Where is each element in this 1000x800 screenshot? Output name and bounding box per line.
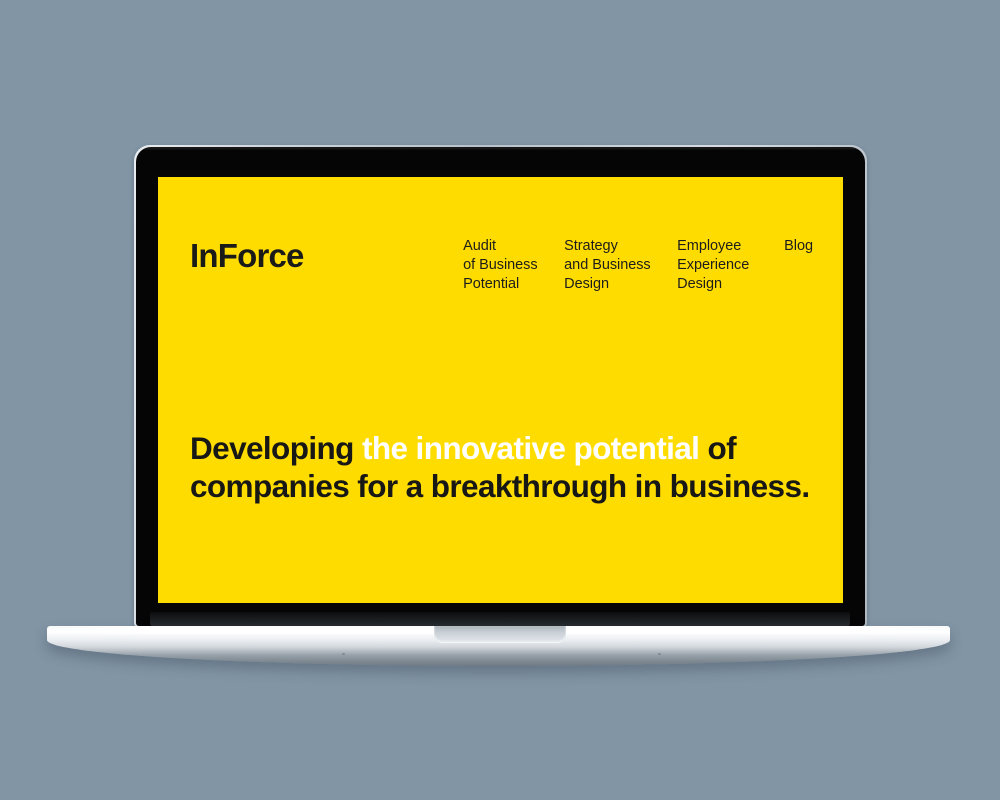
main-navigation: Audit of Business Potential Strategy and… <box>463 237 813 293</box>
nav-item-audit[interactable]: Audit of Business Potential <box>463 237 564 293</box>
laptop-front-notch <box>434 626 566 643</box>
nav-item-blog[interactable]: Blog <box>784 237 813 256</box>
brand-logo[interactable]: InForce <box>190 237 304 272</box>
laptop-device: InForce Audit of Business Potential Stra… <box>0 0 1000 800</box>
headline-segment-lead: Developing <box>190 430 362 466</box>
headline-segment-highlight: the innovative potential <box>362 430 699 466</box>
hero-headline: Developing the innovative potential of c… <box>190 429 810 505</box>
site-header: InForce Audit of Business Potential Stra… <box>190 237 813 293</box>
nav-item-strategy[interactable]: Strategy and Business Design <box>564 237 677 293</box>
screenshot-canvas: InForce Audit of Business Potential Stra… <box>0 0 1000 800</box>
nav-item-employee[interactable]: Employee Experience Design <box>677 237 784 293</box>
website-page: InForce Audit of Business Potential Stra… <box>158 177 843 603</box>
laptop-display: InForce Audit of Business Potential Stra… <box>158 177 843 603</box>
laptop-foot-right <box>658 653 661 655</box>
laptop-foot-left <box>342 653 345 655</box>
